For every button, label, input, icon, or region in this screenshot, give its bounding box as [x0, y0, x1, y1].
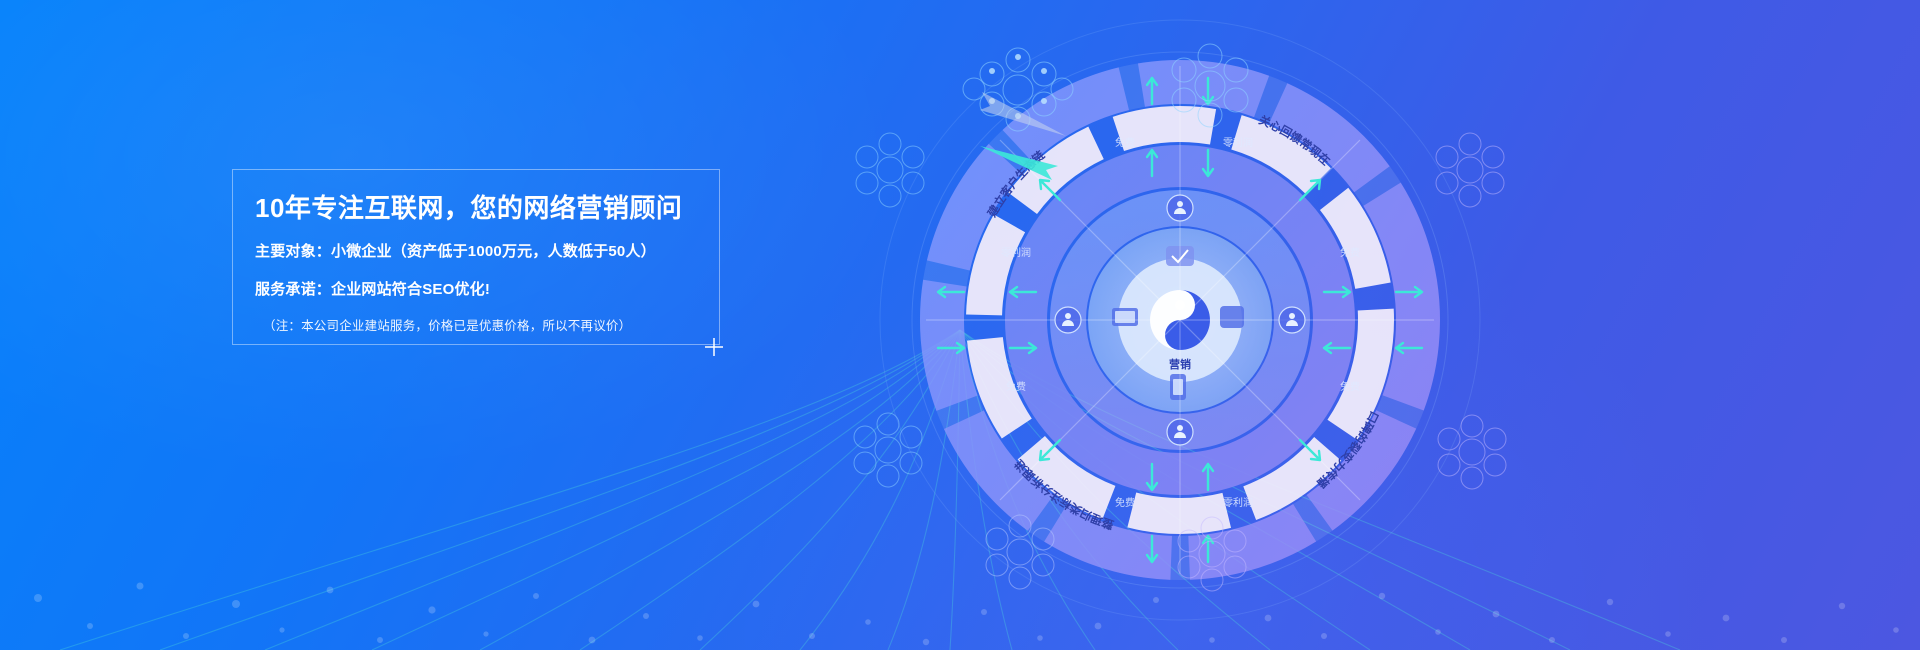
spoke-label-2: 零利润: [1001, 246, 1031, 259]
promo-text-inner: 10年专注互联网，您的网络营销顾问 主要对象：小微企业（资产低于1000万元，人…: [255, 194, 725, 334]
spoke-dividers: [926, 66, 1434, 574]
spoke-label-4: 免费: [1006, 380, 1026, 393]
spoke-label-7: 零利润: [1223, 496, 1253, 509]
spoke-label-3: 免费: [1340, 246, 1360, 259]
spoke-label-6: 免费: [1115, 496, 1135, 509]
spoke-label-0: 免费: [1115, 136, 1135, 149]
spoke-label-1: 零利润: [1223, 136, 1253, 149]
target-audience-line: 主要对象：小微企业（资产低于1000万元，人数低于50人）: [255, 240, 725, 261]
spoke-label-5: 免费: [1340, 380, 1360, 393]
service-promise-line: 服务承诺：企业网站符合SEO优化!: [255, 278, 725, 299]
promo-banner: 营销: [0, 0, 1920, 650]
price-note: （注：本公司企业建站服务，价格已是优惠价格，所以不再议价）: [263, 315, 725, 334]
page-title: 10年专注互联网，您的网络营销顾问: [255, 194, 725, 223]
promo-text-panel: 10年专注互联网，您的网络营销顾问 主要对象：小微企业（资产低于1000万元，人…: [232, 169, 720, 345]
marketing-ecosystem-diagram: 营销: [830, 0, 1530, 650]
plus-mark-icon: [705, 338, 723, 356]
